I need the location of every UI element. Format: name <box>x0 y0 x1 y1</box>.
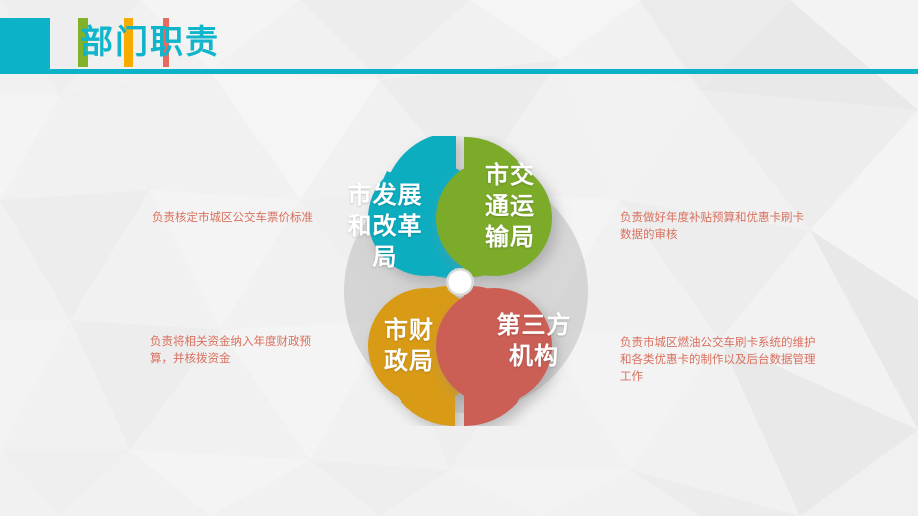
callout-dev-description: 负责核定市城区公交车票价标准 <box>152 209 328 226</box>
header-accent-bar-cyan <box>0 18 50 73</box>
callout-third-description: 负责市城区燃油公交车刷卡系统的维护和各类优惠卡的制作以及后台数据管理工作 <box>620 334 818 385</box>
callout-fin-description: 负责将相关资金纳入年度财政预算，并核拨资金 <box>150 333 328 367</box>
four-petal-diagram <box>316 136 606 426</box>
callout-trans-description: 负责做好年度补贴预算和优惠卡刷卡数据的审核 <box>620 209 806 243</box>
header-divider-rule <box>0 69 918 74</box>
center-hub-circle <box>449 271 472 294</box>
page-title: 部门职责 <box>80 18 220 65</box>
page-header: 部门职责 <box>0 0 918 74</box>
petal-shapes-svg <box>316 136 606 426</box>
